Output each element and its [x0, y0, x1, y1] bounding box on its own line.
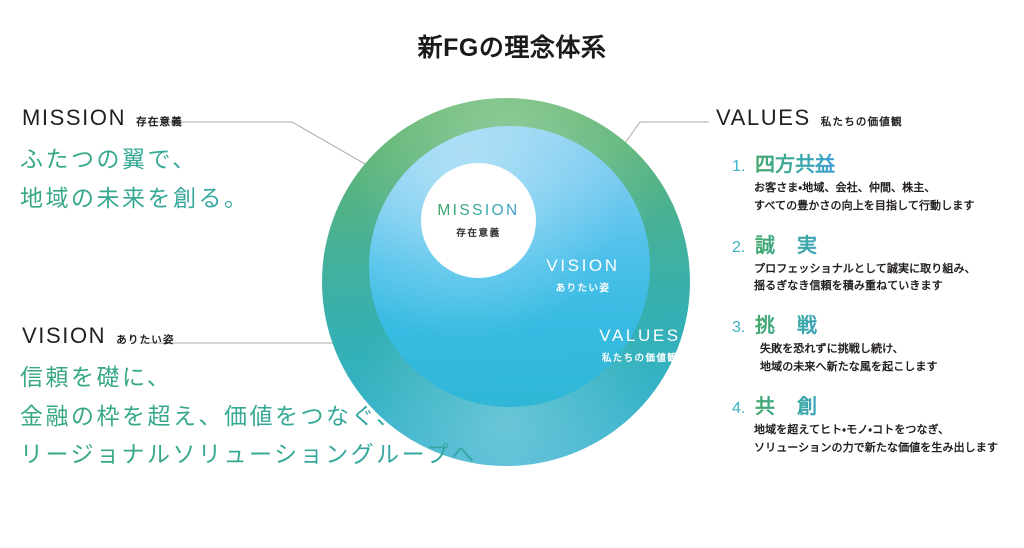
values-heading: VALUES 私たちの価値観	[716, 105, 903, 131]
value-name: 挑戦	[755, 309, 839, 338]
value-title-row: 1.四方共益	[732, 148, 1022, 177]
value-number: 1.	[732, 158, 748, 176]
value-item: 4.共創地域を超えてヒト・モノ・コトをつなぎ、 ソリューションの力で新たな価値を…	[732, 390, 1022, 458]
value-name: 共創	[755, 390, 839, 419]
value-item: 1.四方共益お客さま・地域、会社、仲間、株主、 すべての豊かさの向上を目指して行…	[732, 148, 1022, 216]
values-ring-label-jp: 私たちの価値観	[570, 350, 710, 364]
values-ring-label: VALUES 私たちの価値観	[570, 326, 710, 364]
value-item: 2.誠実プロフェッショナルとして誠実に取り組み、 揺るぎなき信頼を積み重ねていき…	[732, 229, 1022, 297]
mission-heading-en: MISSION	[22, 105, 126, 131]
value-item: 3.挑戦失敗を恐れずに挑戦し続け、 地域の未来へ新たな風を起こします	[732, 309, 1022, 377]
mission-core-label-jp: 存在意義	[456, 225, 500, 239]
value-title-row: 2.誠実	[732, 229, 1022, 258]
vision-statement: 信頼を礎に、 金融の枠を超え、価値をつなぐ、 リージョナルソリューショングループ…	[20, 358, 477, 474]
value-number: 3.	[732, 319, 748, 337]
value-title-row: 3.挑戦	[732, 309, 1022, 338]
vision-ring-label: VISION ありたい姿	[518, 256, 648, 294]
vision-heading: VISION ありたい姿	[22, 323, 175, 349]
philosophy-diagram-page: 新FGの理念体系 MISSION 存在意義 VISION ありたい姿 VALUE…	[0, 0, 1024, 548]
value-name: 誠実	[755, 229, 839, 258]
value-description: 失敗を恐れずに挑戦し続け、 地域の未来へ新たな風を起こします	[760, 341, 1022, 377]
value-description: お客さま・地域、会社、仲間、株主、 すべての豊かさの向上を目指して行動します	[754, 180, 1022, 216]
value-number: 4.	[732, 400, 748, 418]
values-heading-jp: 私たちの価値観	[821, 114, 903, 129]
mission-heading-jp: 存在意義	[136, 114, 183, 129]
page-title: 新FGの理念体系	[0, 28, 1024, 64]
mission-heading: MISSION 存在意義	[22, 105, 183, 131]
mission-statement: ふたつの翼で、 地域の未来を創る。	[20, 140, 250, 217]
vision-heading-jp: ありたい姿	[116, 332, 175, 347]
value-number: 2.	[732, 239, 748, 257]
vision-ring-label-en: VISION	[518, 256, 648, 276]
vision-ring-label-jp: ありたい姿	[518, 280, 648, 294]
values-heading-en: VALUES	[716, 105, 811, 131]
vision-heading-en: VISION	[22, 323, 106, 349]
values-ring-label-en: VALUES	[570, 326, 710, 346]
value-title-row: 4.共創	[732, 390, 1022, 419]
value-description: プロフェッショナルとして誠実に取り組み、 揺るぎなき信頼を積み重ねていきます	[754, 261, 1022, 297]
mission-core-label-en: MISSION	[437, 202, 519, 220]
values-list: 1.四方共益お客さま・地域、会社、仲間、株主、 すべての豊かさの向上を目指して行…	[732, 148, 1022, 471]
value-description: 地域を超えてヒト・モノ・コトをつなぎ、 ソリューションの力で新たな価値を生み出し…	[754, 422, 1022, 458]
value-name: 四方共益	[755, 148, 835, 177]
